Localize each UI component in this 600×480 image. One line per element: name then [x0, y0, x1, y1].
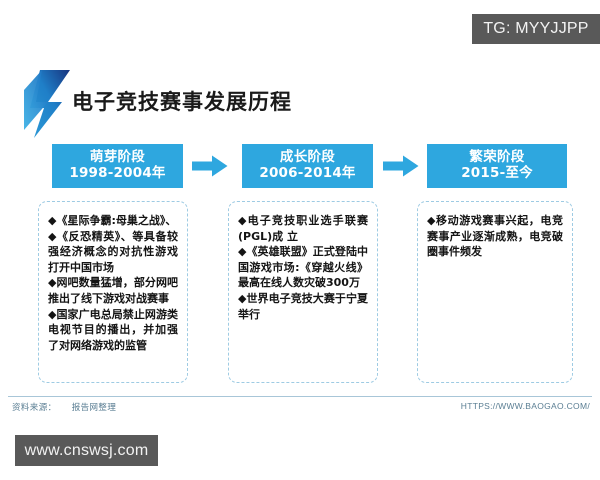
- footer-url[interactable]: HTTPS://WWW.BAOGAO.COM/: [461, 401, 590, 411]
- watermark-bottom-left: www.cnswsj.com: [15, 435, 158, 466]
- stage-name-2: 繁荣阶段: [469, 150, 524, 166]
- arrow-right-icon: [383, 155, 419, 177]
- stage-years-1: 2006-2014年: [259, 166, 355, 182]
- list-item: ◆电子竞技职业选手联赛(PGL)成 立: [238, 213, 368, 244]
- list-item: ◆国家广电总局禁止网游类电视节目的播出，并加强了对网络游戏的监管: [48, 307, 178, 354]
- bullet-list-2: ◆移动游戏赛事兴起，电竞赛事产业逐渐成熟，电竞破圈事件频发: [427, 213, 563, 260]
- stage-header-row: 萌芽阶段 1998-2004年 成长阶段 2006-2014年 繁荣阶段 201…: [0, 144, 600, 190]
- list-item: ◆世界电子竞技大赛于宁夏举行: [238, 291, 368, 322]
- stage-content-card-1: ◆电子竞技职业选手联赛(PGL)成 立 ◆《英雄联盟》正式登陆中国游戏市场:《穿…: [228, 201, 378, 383]
- stage-header-0[interactable]: 萌芽阶段 1998-2004年: [52, 144, 183, 188]
- list-item: ◆《反恐精英》、等具备较强经济概念的对抗性游戏打开中国市场: [48, 229, 178, 276]
- stage-years-2: 2015-至今: [461, 166, 533, 182]
- footer-divider: 资料来源： 报告网整理 HTTPS://WWW.BAOGAO.COM/: [8, 396, 592, 417]
- list-item: ◆《星际争霸:母巢之战》、: [48, 213, 178, 229]
- stage-header-2[interactable]: 繁荣阶段 2015-至今: [427, 144, 567, 188]
- watermark-top-right: TG: MYYJJPP: [472, 14, 600, 44]
- arrow-right-icon: [192, 155, 228, 177]
- list-item: ◆网吧数量猛增，部分网吧推出了线下游戏对战赛事: [48, 275, 178, 306]
- footer-source-label: 资料来源：: [12, 403, 57, 413]
- bullet-list-0: ◆《星际争霸:母巢之战》、 ◆《反恐精英》、等具备较强经济概念的对抗性游戏打开中…: [48, 213, 178, 353]
- stage-header-1[interactable]: 成长阶段 2006-2014年: [242, 144, 373, 188]
- list-item: ◆《英雄联盟》正式登陆中国游戏市场:《穿越火线》最高在线人数灾破300万: [238, 244, 368, 291]
- page-title: 电子竞技赛事发展历程: [72, 86, 292, 116]
- footer-source-value: 报告网整理: [72, 403, 117, 413]
- stage-content-card-2: ◆移动游戏赛事兴起，电竞赛事产业逐渐成熟，电竞破圈事件频发: [417, 201, 573, 383]
- page-header: 电子竞技赛事发展历程: [0, 60, 600, 140]
- stage-years-0: 1998-2004年: [69, 166, 165, 182]
- stage-name-1: 成长阶段: [280, 150, 335, 166]
- stage-content-row: ◆《星际争霸:母巢之战》、 ◆《反恐精英》、等具备较强经济概念的对抗性游戏打开中…: [0, 201, 600, 385]
- stage-name-0: 萌芽阶段: [90, 150, 145, 166]
- bullet-list-1: ◆电子竞技职业选手联赛(PGL)成 立 ◆《英雄联盟》正式登陆中国游戏市场:《穿…: [238, 213, 368, 322]
- footer-source: 资料来源： 报告网整理: [12, 401, 116, 413]
- blue-lightning-logo-icon: [18, 68, 74, 140]
- list-item: ◆移动游戏赛事兴起，电竞赛事产业逐渐成熟，电竞破圈事件频发: [427, 213, 563, 260]
- stage-content-card-0: ◆《星际争霸:母巢之战》、 ◆《反恐精英》、等具备较强经济概念的对抗性游戏打开中…: [38, 201, 188, 383]
